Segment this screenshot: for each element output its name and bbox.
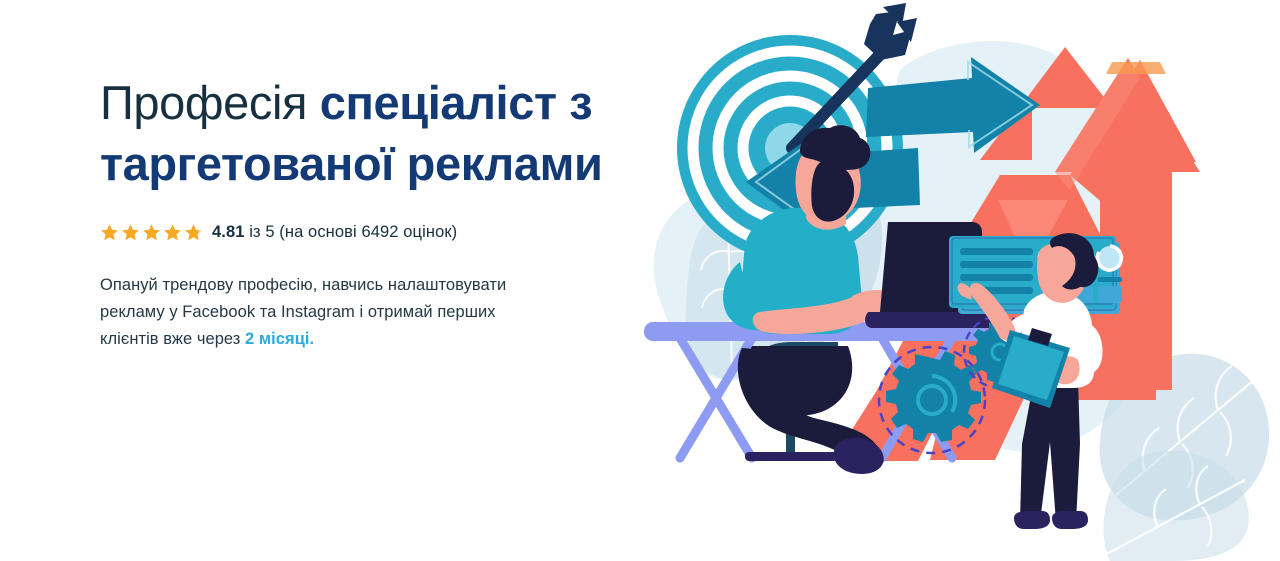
star-rating <box>100 223 203 242</box>
targeting-specialist-illustration <box>600 0 1280 561</box>
star-icon <box>121 223 140 242</box>
rating-row: 4.81 із 5 (на основі 6492 оцінок) <box>100 220 640 244</box>
hero-subtitle: Опануй трендову професію, навчись налашт… <box>100 272 530 353</box>
hero-subtitle-accent: 2 місяці. <box>245 330 314 348</box>
page-title-plain: Професія <box>100 76 320 129</box>
rating-text: 4.81 із 5 (на основі 6492 оцінок) <box>212 223 457 242</box>
hero-copy: Професія спеціаліст з таргетованої рекла… <box>100 72 640 353</box>
page-title: Професія спеціаліст з таргетованої рекла… <box>100 72 640 194</box>
star-icon <box>142 223 161 242</box>
rating-suffix: із 5 (на основі 6492 оцінок) <box>245 223 458 241</box>
star-icon <box>100 223 119 242</box>
hero-section: Професія спеціаліст з таргетованої рекла… <box>0 0 1280 561</box>
star-icon-partial <box>184 223 203 242</box>
rating-score: 4.81 <box>212 223 245 241</box>
star-icon <box>163 223 182 242</box>
